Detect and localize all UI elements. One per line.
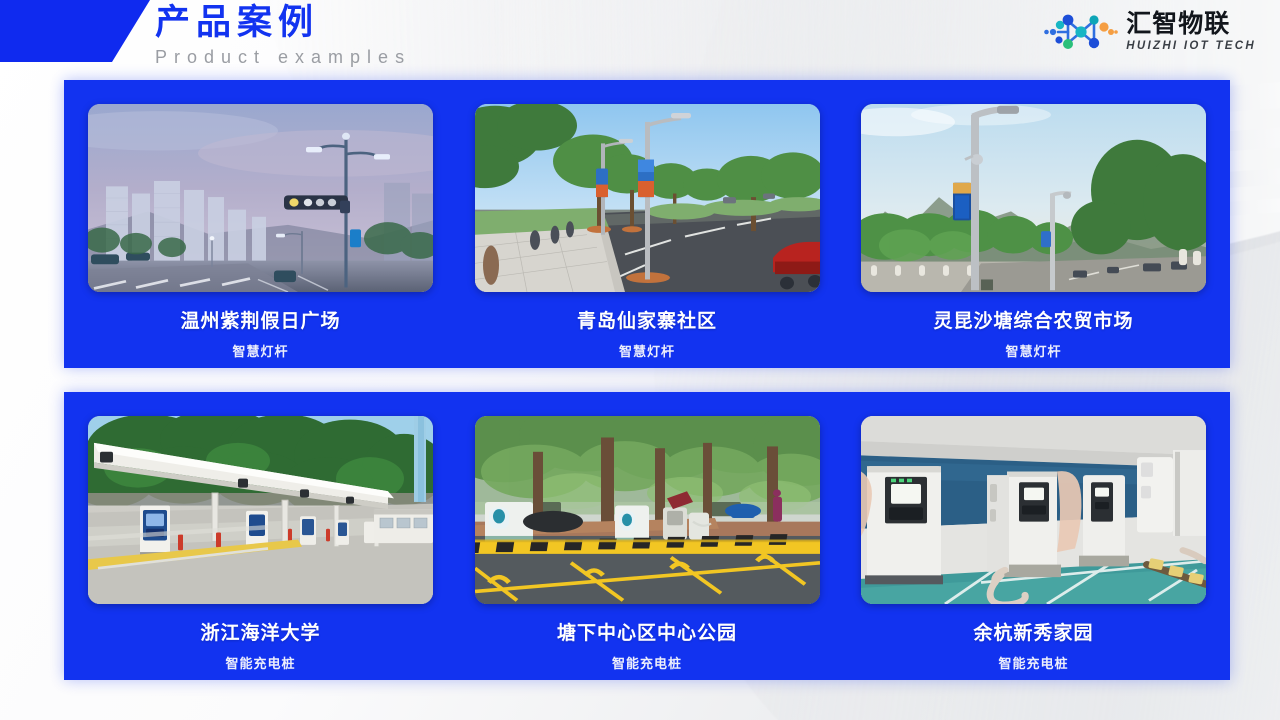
case-title: 灵昆沙塘综合农贸市场 bbox=[933, 306, 1133, 333]
case-title: 浙江海洋大学 bbox=[200, 618, 320, 645]
case-panel-smart-lamp-pole: 温州紫荆假日广场 智慧灯杆 bbox=[64, 80, 1230, 368]
case-title: 青岛仙家寨社区 bbox=[577, 306, 717, 333]
brand-logo-text: 汇智物联 HUIZHI IOT TECH bbox=[1126, 11, 1256, 53]
case-subtitle: 智能充电桩 bbox=[998, 653, 1068, 672]
tree-lined-street-render-with-banner-poles[interactable] bbox=[475, 104, 820, 292]
case-subtitle: 智能充电桩 bbox=[225, 653, 295, 672]
case-title: 温州紫荆假日广场 bbox=[180, 306, 340, 333]
molecule-network-icon bbox=[1044, 10, 1118, 54]
case-panel-ev-charging-pile: 浙江海洋大学 智能充电桩 bbox=[64, 392, 1230, 680]
smart-pole-with-led-screen-mountain-road-photo[interactable] bbox=[861, 104, 1206, 292]
dusk-city-street-with-smart-pole-photo[interactable] bbox=[88, 104, 433, 292]
case-card[interactable]: 余杭新秀家园 智能充电桩 bbox=[861, 416, 1206, 672]
page-title: 产品案例 bbox=[155, 2, 411, 44]
case-title: 塘下中心区中心公园 bbox=[557, 618, 737, 645]
header-blue-wedge bbox=[0, 0, 150, 62]
case-card[interactable]: 塘下中心区中心公园 智能充电桩 bbox=[475, 416, 820, 672]
brand-name-cn: 汇智物联 bbox=[1126, 11, 1256, 36]
brand-name-en: HUIZHI IOT TECH bbox=[1126, 41, 1256, 53]
case-card[interactable]: 灵昆沙塘综合农贸市场 智慧灯杆 bbox=[861, 104, 1206, 360]
case-subtitle: 智能充电桩 bbox=[612, 653, 682, 672]
case-card[interactable]: 浙江海洋大学 智能充电桩 bbox=[88, 416, 433, 672]
brand-logo[interactable]: 汇智物联 HUIZHI IOT TECH bbox=[1044, 10, 1256, 54]
indoor-charging-cabinets-room-photo[interactable] bbox=[861, 416, 1206, 604]
header-title-group: 产品案例 Product examples bbox=[155, 2, 411, 69]
case-subtitle: 智慧灯杆 bbox=[1005, 341, 1061, 360]
slide-header: 产品案例 Product examples bbox=[0, 0, 1280, 76]
case-subtitle: 智慧灯杆 bbox=[232, 341, 288, 360]
case-title: 余杭新秀家园 bbox=[973, 618, 1093, 645]
case-card[interactable]: 温州紫荆假日广场 智慧灯杆 bbox=[88, 104, 433, 360]
case-subtitle: 智慧灯杆 bbox=[619, 341, 675, 360]
case-card[interactable]: 青岛仙家寨社区 智慧灯杆 bbox=[475, 104, 820, 360]
parking-lot-charging-piles-photo[interactable] bbox=[475, 416, 820, 604]
charging-station-canopy-photo[interactable] bbox=[88, 416, 433, 604]
page-subtitle: Product examples bbox=[155, 45, 411, 69]
